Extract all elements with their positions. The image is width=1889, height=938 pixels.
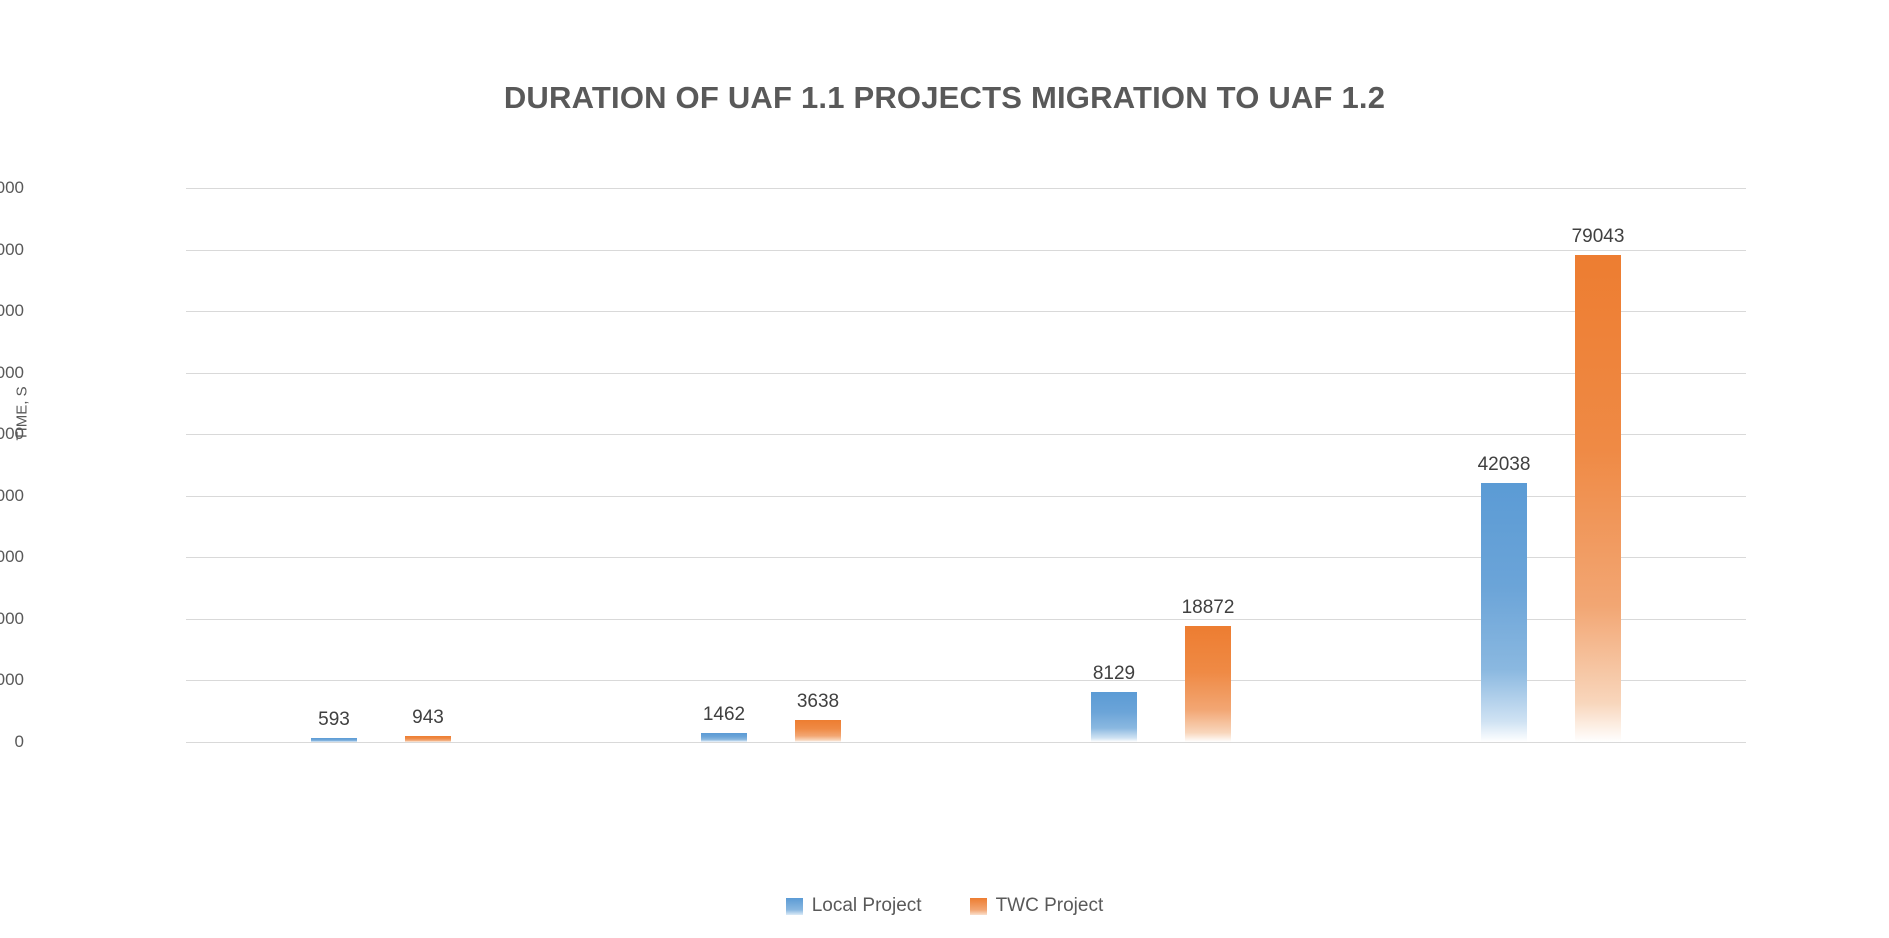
y-axis-tick-label: 80000 [0,240,24,260]
legend-label-twc: TWC Project [996,895,1104,917]
legend-swatch-icon-local [786,898,803,915]
y-axis-tick-label: 30000 [0,547,24,567]
y-axis-tick-label: 0 [0,732,24,752]
bar-value-label: 8129 [1093,663,1135,685]
y-axis-tick-label: 70000 [0,301,24,321]
bar-value-label: 18872 [1182,597,1235,619]
gridline [186,742,1746,743]
chart-legend: Local Project TWC Project [0,895,1889,917]
bar-value-label: 943 [412,707,444,729]
bar-value-label: 1462 [703,704,745,726]
gridline [186,373,1746,374]
bar-twc-0[interactable] [405,736,451,742]
legend-item-twc-project[interactable]: TWC Project [970,895,1104,917]
y-axis-tick-label: 90000 [0,178,24,198]
bar-value-label: 593 [318,709,350,731]
chart-title: DURATION OF UAF 1.1 PROJECTS MIGRATION T… [0,80,1889,116]
legend-item-local-project[interactable]: Local Project [786,895,922,917]
bar-local-3[interactable] [1481,483,1527,742]
chart-container: DURATION OF UAF 1.1 PROJECTS MIGRATION T… [0,0,1889,938]
bar-local-1[interactable] [701,733,747,742]
gridline [186,311,1746,312]
legend-label-local: Local Project [812,895,922,917]
bar-local-0[interactable] [311,738,357,742]
legend-swatch-icon-twc [970,898,987,915]
y-axis-tick-label: 60000 [0,363,24,383]
y-axis-tick-label: 50000 [0,424,24,444]
bar-twc-1[interactable] [795,720,841,742]
plot-area: 9000080000700006000050000400003000020000… [186,188,1746,742]
gridline [186,188,1746,189]
bar-local-2[interactable] [1091,692,1137,742]
bar-value-label: 79043 [1572,226,1625,248]
bar-twc-2[interactable] [1185,626,1231,742]
gridline [186,434,1746,435]
gridline [186,250,1746,251]
y-axis-tick-label: 10000 [0,670,24,690]
bar-twc-3[interactable] [1575,255,1621,742]
y-axis-tick-label: 20000 [0,609,24,629]
bar-value-label: 3638 [797,691,839,713]
y-axis-tick-label: 40000 [0,486,24,506]
bar-value-label: 42038 [1478,454,1531,476]
